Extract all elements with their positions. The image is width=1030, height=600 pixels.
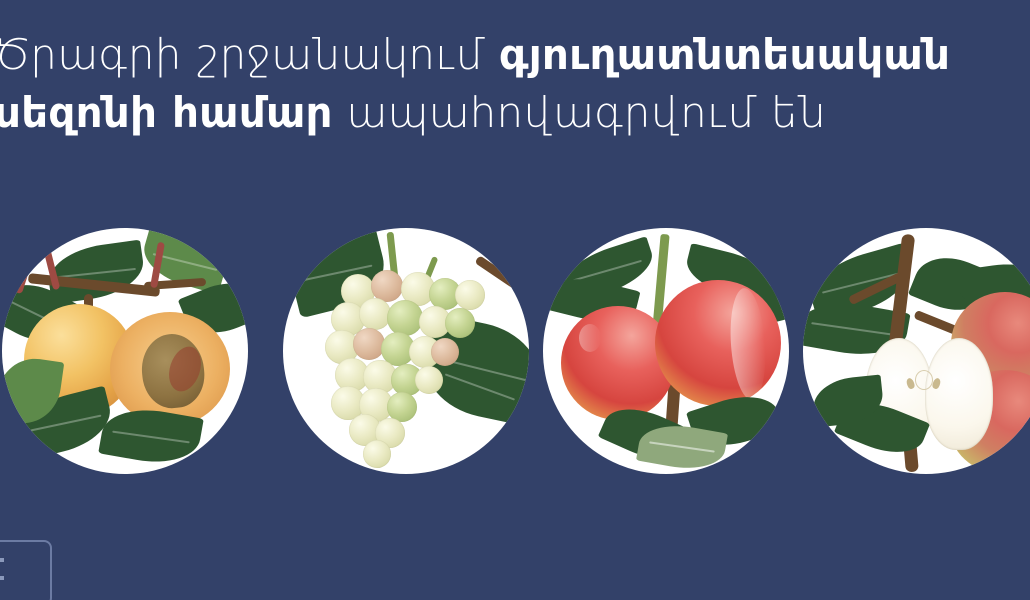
headline-line-2: սեզոնի համար ապահովագրվում են <box>0 84 1030 142</box>
apple-illustration <box>803 228 1030 474</box>
headline-token-regular-2: ապահովագրվում են <box>333 88 826 137</box>
headline-line-1: Ծրագրի շրջանակում գյուղատնտեսական <box>0 26 1030 84</box>
peach-illustration <box>543 228 789 474</box>
badge-lines-glyph <box>0 558 4 592</box>
headline-token-bold-2: սեզոնի համար <box>0 88 333 137</box>
headline-token-regular-1: Ծրագրի շրջանակում <box>0 30 499 79</box>
grape-illustration <box>283 228 529 474</box>
document-badge-icon[interactable] <box>0 540 52 600</box>
fruit-circle-row <box>0 228 1030 474</box>
fruit-circle-apricot <box>2 228 248 474</box>
fruit-circle-apple <box>803 228 1030 474</box>
fruit-circle-grape <box>283 228 529 474</box>
page-title: Ծրագրի շրջանակում գյուղատնտեսական սեզոնի… <box>0 26 1030 142</box>
fruit-circle-peach <box>543 228 789 474</box>
apricot-illustration <box>2 228 248 474</box>
headline-token-bold-1: գյուղատնտեսական <box>499 30 950 79</box>
